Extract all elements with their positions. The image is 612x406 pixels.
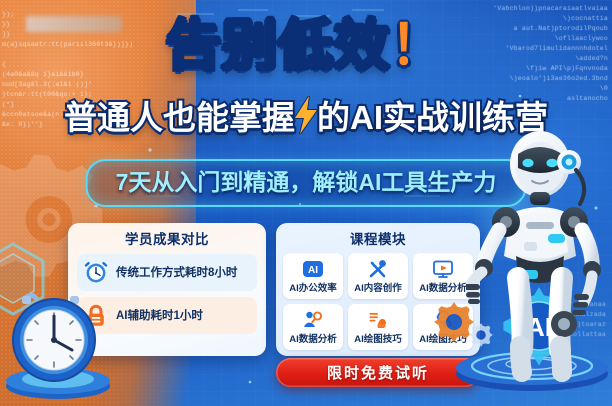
stat-label: 传统工作方式耗时8小时: [116, 267, 237, 279]
humanoid-robot-illustration: [466, 118, 612, 388]
module-tile-ai-draw-1[interactable]: AI绘图技巧: [348, 304, 408, 350]
monitor-play-icon: [415, 257, 471, 281]
headline-exclamation: ！: [390, 14, 446, 76]
tagline-pill: 7天从入门到精通，解锁AI工具生产力: [86, 159, 527, 207]
ai-badge-icon: AI: [285, 257, 341, 281]
lightning-bolt-icon: [293, 96, 319, 134]
pen-microphone-icon: [350, 257, 406, 281]
course-modules-title: 课程模块: [283, 231, 473, 248]
headline-text: 告别低效: [166, 14, 390, 76]
alarm-clock-3d-illustration: [0, 282, 114, 402]
module-label: AI办公效率: [285, 283, 341, 295]
headline: 告别低效！: [0, 16, 612, 74]
student-results-title: 学员成果对比: [77, 231, 257, 248]
module-label: AI数据分析: [415, 283, 471, 295]
subtitle-text-before: 普通人也能掌握: [64, 99, 295, 136]
module-tile-ai-content[interactable]: AI内容创作: [348, 253, 408, 299]
module-tile-ai-data-1[interactable]: AI数据分析: [413, 253, 473, 299]
stat-body: AI辅助耗时1小时: [116, 306, 249, 324]
module-tile-ai-office[interactable]: AI AI办公效率: [283, 253, 343, 299]
svg-text:AI: AI: [308, 265, 318, 276]
free-trial-cta-button[interactable]: 限时免费试听: [276, 358, 480, 387]
promo-banner: }); }} ]} m(a}sqsaetr:tt(pariil360t3&})]…: [0, 0, 612, 406]
module-label: AI数据分析: [285, 334, 341, 346]
stat-body: 传统工作方式耗时8小时: [116, 263, 249, 281]
person-magnifier-icon: [285, 308, 341, 332]
hand-draw-icon: [350, 308, 406, 332]
module-label: AI绘图技巧: [350, 334, 406, 346]
stat-label: AI辅助耗时1小时: [116, 310, 203, 322]
module-label: AI内容创作: [350, 283, 406, 295]
module-tile-ai-data-2[interactable]: AI数据分析: [283, 304, 343, 350]
